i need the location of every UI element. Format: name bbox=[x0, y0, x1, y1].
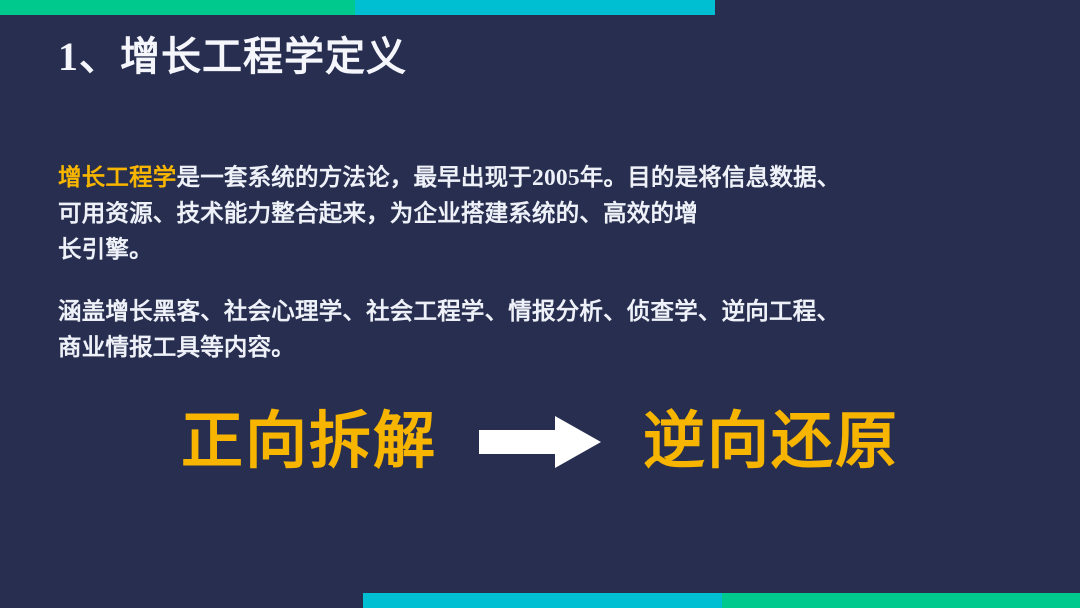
emphasis-right-text: 逆向还原 bbox=[643, 408, 899, 476]
bottom-green-bar bbox=[722, 593, 1080, 608]
emphasis-row: 正向拆解 逆向还原 bbox=[0, 408, 1080, 476]
definition-line-1-rest: 是一套系统的方法论，最早出现于2005年。目的是将信息数据、 bbox=[177, 165, 841, 191]
scope-paragraph: 涵盖增长黑客、社会心理学、社会工程学、情报分析、侦查学、逆向工程、 商业情报工具… bbox=[58, 294, 1008, 366]
definition-line-2: 可用资源、技术能力整合起来，为企业搭建系统的、高效的增 bbox=[58, 196, 1008, 232]
bottom-cyan-bar bbox=[363, 593, 722, 608]
right-arrow-icon bbox=[479, 416, 601, 468]
scope-line-2: 商业情报工具等内容。 bbox=[58, 330, 1008, 366]
definition-line-1: 增长工程学是一套系统的方法论，最早出现于2005年。目的是将信息数据、 bbox=[58, 160, 1008, 196]
definition-paragraph: 增长工程学是一套系统的方法论，最早出现于2005年。目的是将信息数据、 可用资源… bbox=[58, 160, 1008, 268]
top-green-bar bbox=[0, 0, 355, 15]
top-cyan-bar bbox=[355, 0, 715, 15]
slide-canvas: 1、增长工程学定义 增长工程学是一套系统的方法论，最早出现于2005年。目的是将… bbox=[0, 0, 1080, 608]
definition-line-3: 长引擎。 bbox=[58, 232, 1008, 268]
scope-line-1: 涵盖增长黑客、社会心理学、社会工程学、情报分析、侦查学、逆向工程、 bbox=[58, 294, 1008, 330]
emphasis-left-text: 正向拆解 bbox=[181, 408, 437, 476]
term-highlight: 增长工程学 bbox=[58, 165, 177, 191]
body-content: 增长工程学是一套系统的方法论，最早出现于2005年。目的是将信息数据、 可用资源… bbox=[58, 160, 1008, 366]
slide-title: 1、增长工程学定义 bbox=[58, 33, 407, 81]
